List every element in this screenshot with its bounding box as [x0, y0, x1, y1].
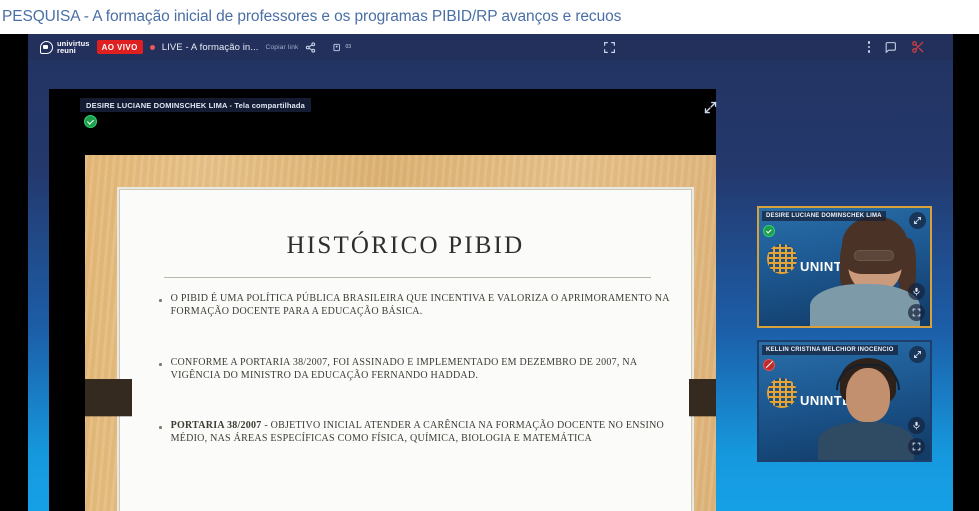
conference-toolbar: univirtus reuni AO VIVO LIVE - A formaçã…	[28, 34, 953, 60]
participant-tile-2[interactable]: UNINTER KELLIN CRISTINA MELCHIOR INOCENC…	[757, 340, 932, 462]
green-check-badge	[763, 225, 775, 237]
chat-bubble-icon[interactable]	[884, 41, 897, 54]
stream-title: LIVE - A formação in...	[162, 42, 259, 53]
bullet-3-text: PORTARIA 38/2007 - OBJETIVO INICIAL ATEN…	[171, 420, 671, 445]
participant-1-name: DESIRE LUCIANE DOMINSCHEK LIMA	[762, 211, 886, 221]
slide-title-rule	[164, 277, 651, 278]
slide-wooden-frame: HISTÓRICO PIBID O PIBID É UMA POLÍTICA P…	[85, 155, 716, 511]
globe-icon	[767, 244, 797, 274]
participants-count-icon[interactable]: 03	[333, 42, 351, 53]
screenshare-owner-label: DESIRE LUCIANE DOMINSCHEK LIMA - Tela co…	[80, 98, 311, 112]
live-badge: AO VIVO	[97, 40, 143, 54]
slide-clip-right	[689, 379, 716, 416]
participant-2-microphone-icon[interactable]	[908, 417, 925, 434]
kebab-menu-icon[interactable]	[868, 41, 870, 52]
bullet-dot-icon	[159, 299, 162, 302]
page-title-bar: PESQUISA - A formação inicial de profess…	[0, 0, 979, 34]
slide-bullet-1: O PIBID É UMA POLÍTICA PÚBLICA BRASILEIR…	[159, 293, 671, 318]
participant-1-hair	[842, 216, 908, 274]
slide-bullet-2: CONFORME A PORTARIA 38/2007, FOI ASSINAD…	[159, 357, 671, 382]
speech-bubble-icon	[40, 41, 53, 54]
page-title: PESQUISA - A formação inicial de profess…	[2, 8, 621, 26]
screenshare-expand-icon[interactable]	[703, 100, 719, 116]
slide-clip-left	[85, 379, 132, 416]
bullet-dot-icon	[159, 363, 162, 366]
logo-line-2: reuni	[57, 47, 90, 54]
recording-dot-icon	[150, 45, 155, 50]
fullscreen-icon[interactable]	[603, 41, 616, 54]
slide-title: HISTÓRICO PIBID	[119, 232, 692, 260]
participant-1-microphone-icon[interactable]	[908, 283, 925, 300]
participant-1-expand-icon[interactable]	[909, 212, 926, 229]
red-mute-badge	[763, 359, 775, 371]
univirtus-logo[interactable]: univirtus reuni	[40, 40, 90, 54]
scissors-cut-icon[interactable]	[911, 40, 925, 54]
slide-paper: HISTÓRICO PIBID O PIBID É UMA POLÍTICA P…	[117, 187, 694, 511]
bullet-3-bold-prefix: PORTARIA 38/2007	[171, 420, 262, 431]
bullet-2-text: CONFORME A PORTARIA 38/2007, FOI ASSINAD…	[171, 357, 671, 382]
bullet-1-text: O PIBID É UMA POLÍTICA PÚBLICA BRASILEIR…	[171, 293, 671, 318]
participant-1-fullscreen-icon[interactable]	[908, 304, 925, 321]
video-conference-app: univirtus reuni AO VIVO LIVE - A formaçã…	[0, 34, 979, 511]
green-check-badge	[84, 115, 97, 128]
shared-screen-region[interactable]: HISTÓRICO PIBID O PIBID É UMA POLÍTICA P…	[49, 89, 716, 511]
slide-bullet-3: PORTARIA 38/2007 - OBJETIVO INICIAL ATEN…	[159, 420, 671, 445]
share-icon[interactable]	[305, 42, 316, 53]
participant-tile-1[interactable]: UNINTER DESIRE LUCIANE DOMINSCHEK LIMA	[757, 206, 932, 328]
globe-icon	[767, 378, 797, 408]
glasses-icon	[854, 250, 894, 261]
copy-link-label[interactable]: Copiar link	[266, 44, 299, 51]
participant-2-fullscreen-icon[interactable]	[908, 438, 925, 455]
participant-2-name: KELLIN CRISTINA MELCHIOR INOCENCIO	[762, 345, 898, 355]
participant-2-expand-icon[interactable]	[909, 346, 926, 363]
bullet-dot-icon	[159, 426, 162, 429]
participant-1-body	[810, 284, 920, 328]
participant-2-body	[818, 422, 914, 462]
